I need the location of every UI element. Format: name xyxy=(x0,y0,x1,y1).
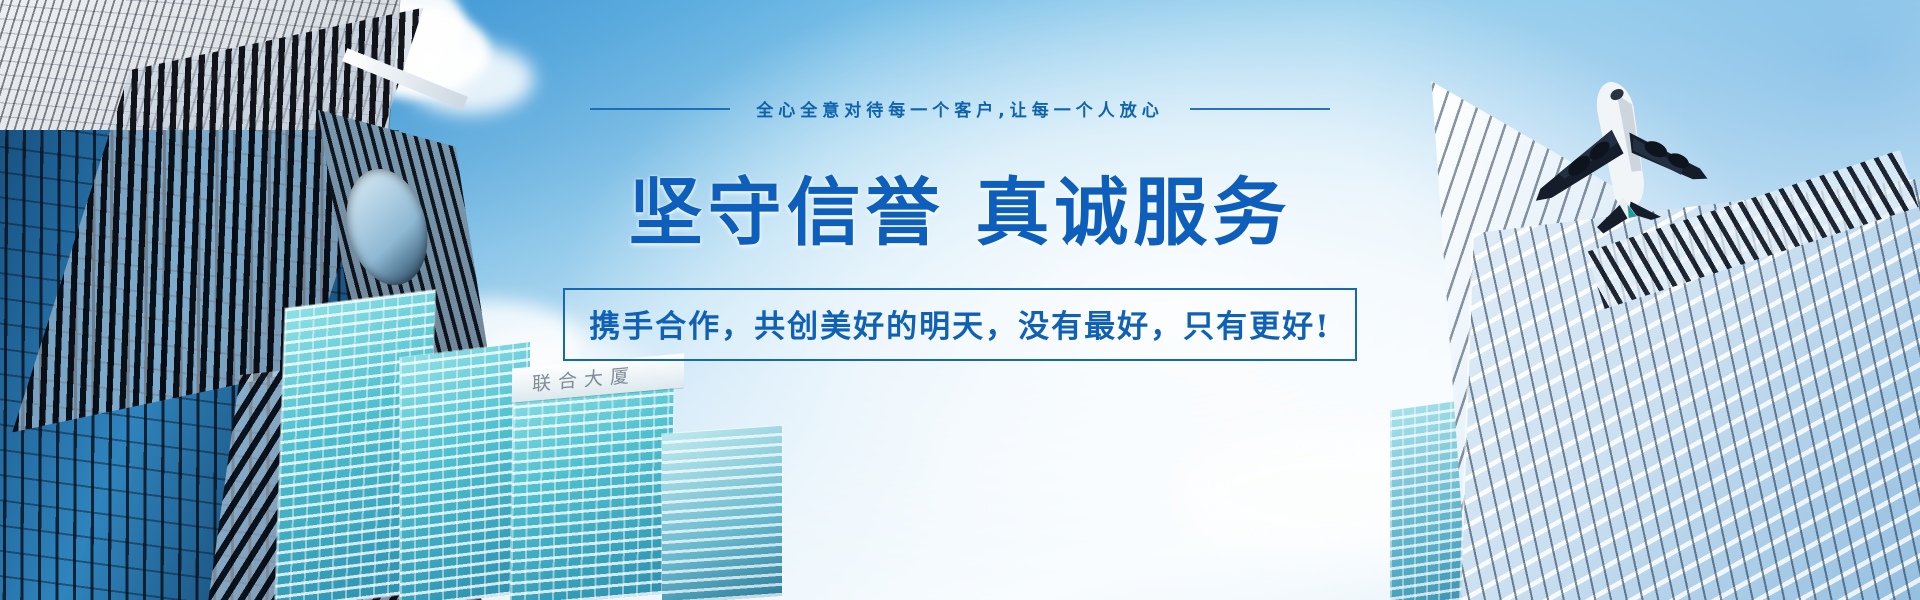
eyebrow-text: 全心全意对待每一个客户,让每一个人放心 xyxy=(756,96,1163,121)
eyebrow-row: 全心全意对待每一个客户,让每一个人放心 xyxy=(0,96,1920,121)
subtitle-text: 携手合作，共创美好的明天，没有最好，只有更好! xyxy=(589,309,1331,345)
hero-banner: 联合大厦 xyxy=(0,0,1920,600)
divider-rule-right-icon xyxy=(1190,108,1330,110)
divider-rule-left-icon xyxy=(590,108,730,110)
page-title: 坚守信誉 真诚服务 xyxy=(0,153,1920,260)
subtitle-box: 携手合作，共创美好的明天，没有最好，只有更好! xyxy=(563,288,1357,361)
banner-copy: 全心全意对待每一个客户,让每一个人放心 坚守信誉 真诚服务 携手合作，共创美好的… xyxy=(0,96,1920,361)
teal-tower xyxy=(662,426,782,600)
teal-tower xyxy=(510,368,674,600)
